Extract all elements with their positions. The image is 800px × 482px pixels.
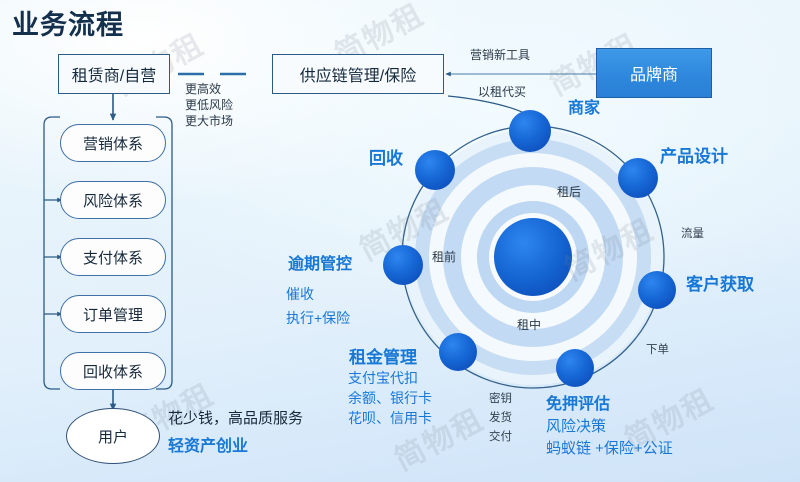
pill-recycle-system[interactable]: 回收体系 [60, 352, 166, 390]
user-note-value: 花少钱，高品质服务 [168, 410, 303, 428]
cycle-label-overdue-control: 逾期管控 [288, 256, 352, 275]
cycle-node-overdue [383, 245, 423, 285]
cycle-label-rent-management: 租金管理 [349, 348, 417, 368]
benefit-item-3: 更大市场 [185, 114, 233, 128]
edge-label-rent-instead-buy: 以租代买 [478, 85, 526, 99]
user-node-label: 用户 [98, 426, 128, 447]
benefit-item-2: 更低风险 [185, 98, 233, 112]
detail-overdue-collection: 催收 [286, 286, 314, 303]
pill-label: 风险体系 [83, 190, 143, 211]
detail-delivery-key: 密钥 [489, 393, 512, 407]
rental-operator-label: 租赁商/自营 [72, 62, 156, 86]
ring-label-post-rent: 租后 [557, 185, 581, 199]
brand-owner-box[interactable]: 品牌商 [596, 48, 712, 98]
cycle-edge-label-traffic: 流量 [681, 228, 704, 242]
detail-rent-huabei-credit: 花呗、信用卡 [348, 410, 432, 427]
detail-antchain-insurance-notary: 蚂蚁链 +保险+公证 [546, 440, 673, 458]
cycle-label-merchant: 商家 [568, 100, 600, 119]
edge-label-marketing-tool: 营销新工具 [470, 48, 530, 62]
rental-operator-box[interactable]: 租赁商/自营 [58, 54, 170, 94]
user-node[interactable]: 用户 [66, 408, 160, 464]
pill-label: 订单管理 [83, 304, 143, 325]
ring-label-pre-rent: 租前 [432, 250, 456, 264]
cycle-node-deposit [556, 349, 594, 387]
cycle-edge-label-order: 下单 [646, 344, 669, 358]
supply-chain-label: 供应链管理/保险 [300, 62, 416, 86]
page-title: 业务流程 [12, 10, 124, 42]
pill-marketing-system[interactable]: 营销体系 [60, 124, 166, 162]
slide-canvas: 简物租 简物租 简物租 简物租 简物租 简物租 简物租 简物租 业务流程 租赁商… [0, 0, 800, 482]
cycle-label-product-design: 产品设计 [660, 147, 728, 167]
cycle-label-recycle: 回收 [369, 149, 403, 169]
brand-owner-label: 品牌商 [630, 61, 678, 85]
pill-order-management[interactable]: 订单管理 [60, 295, 166, 333]
cycle-label-deposit-free: 免押评估 [546, 396, 610, 415]
supply-chain-box[interactable]: 供应链管理/保险 [272, 54, 444, 94]
pill-label: 回收体系 [83, 361, 143, 382]
ring-label-in-rent: 租中 [517, 318, 541, 332]
pill-label: 营销体系 [83, 133, 143, 154]
cycle-label-customer-acquisition: 客户获取 [686, 275, 754, 295]
user-note-lightasset: 轻资产创业 [168, 438, 248, 457]
detail-delivery-ship: 发货 [489, 412, 512, 426]
cycle-node-product [618, 158, 658, 198]
pill-risk-system[interactable]: 风险体系 [60, 181, 166, 219]
detail-rent-alipay: 支付宝代扣 [348, 370, 418, 387]
pill-label: 支付体系 [83, 247, 143, 268]
detail-rent-balance-bank: 余额、银行卡 [348, 390, 432, 407]
benefit-item-1: 更高效 [185, 82, 221, 96]
cycle-node-rentfee [439, 333, 477, 371]
detail-delivery-handover: 交付 [489, 431, 512, 445]
cycle-node-merchant [509, 110, 551, 152]
detail-overdue-enforcement: 执行+保险 [286, 310, 350, 327]
detail-risk-decision: 风险决策 [546, 418, 606, 436]
cycle-node-customer [638, 271, 676, 309]
pill-payment-system[interactable]: 支付体系 [60, 238, 166, 276]
cycle-node-recycle [415, 150, 455, 190]
